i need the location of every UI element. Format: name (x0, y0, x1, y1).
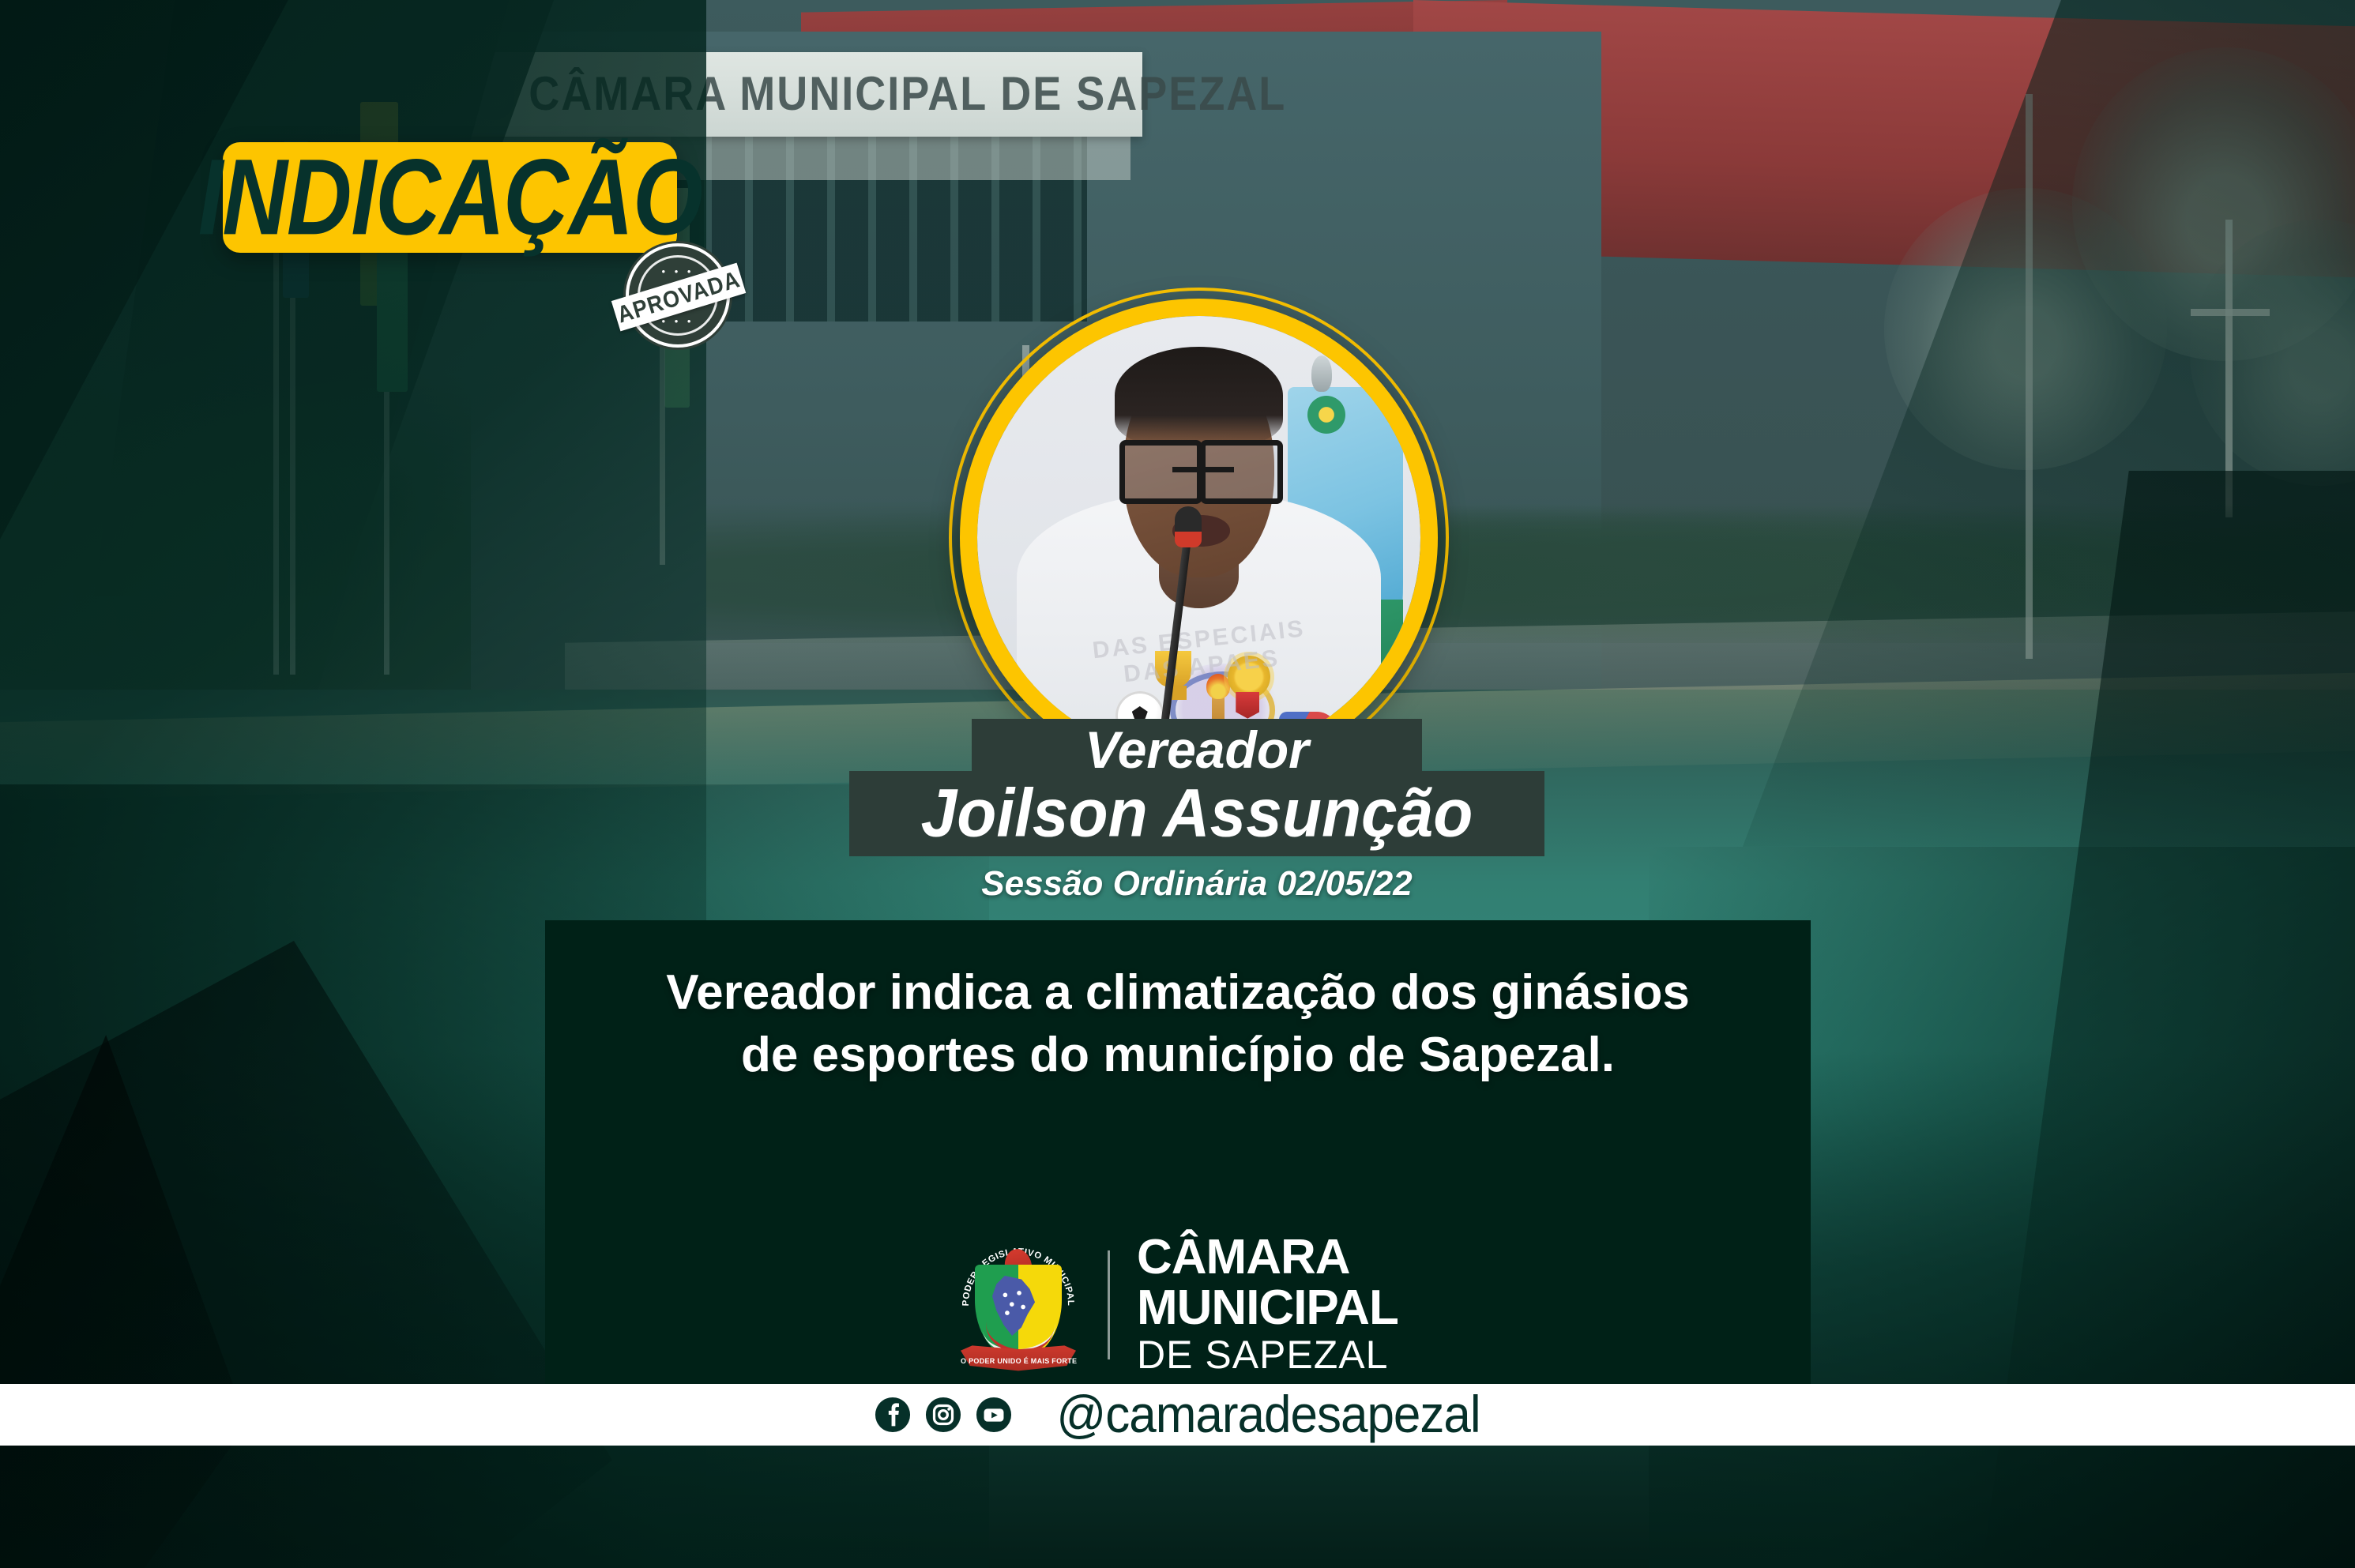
youtube-icon[interactable] (976, 1397, 1012, 1433)
indicacao-label: INDICAÇÃO (198, 144, 702, 252)
flag-rosette-icon (1307, 396, 1345, 434)
poster-canvas: CÂMARA MUNICIPAL DE SAPEZAL INDICAÇÃO (0, 0, 2355, 1568)
coat-of-arms: PODER LEGISLATIVO MUNICIPAL O PODER UNID… (956, 1231, 1081, 1378)
flag-finial-icon (1311, 355, 1332, 392)
social-icon-group (875, 1397, 1012, 1433)
brand-divider (1108, 1250, 1110, 1359)
portrait-container: DAS ESPECIAIS DAS APAES (960, 299, 1438, 776)
instagram-icon[interactable] (925, 1397, 961, 1433)
motto-text: O PODER UNIDO É MAIS FORTE (961, 1357, 1076, 1365)
indicacao-badge: INDICAÇÃO (223, 142, 677, 253)
session-label: Sessão Ordinária 02/05/22 (981, 864, 1412, 904)
brand-line-3: DE SAPEZAL (1137, 1333, 1398, 1378)
session-line: Sessão Ordinária 02/05/22 (849, 861, 1544, 907)
speaker-name: Joilson Assunção (921, 775, 1473, 853)
person-hair (1115, 347, 1283, 444)
brand-line-2: MUNICIPAL (1137, 1283, 1398, 1333)
portrait-photo: DAS ESPECIAIS DAS APAES (977, 316, 1420, 759)
microphone-icon (1175, 506, 1202, 547)
brand-wordmark: CÂMARA MUNICIPAL DE SAPEZAL (1137, 1232, 1398, 1377)
social-bar: @camaradesapezal (0, 1384, 2355, 1446)
motto-banner: O PODER UNIDO É MAIS FORTE (961, 1344, 1076, 1375)
name-plate: Joilson Assunção (849, 771, 1544, 856)
social-handle[interactable]: @camaradesapezal (1056, 1385, 1480, 1444)
brand-lockup: PODER LEGISLATIVO MUNICIPAL O PODER UNID… (956, 1226, 1414, 1384)
eyeglasses-bridge (1172, 467, 1235, 472)
brand-line-1: CÂMARA (1137, 1232, 1398, 1282)
message-line-2: de esportes do município de Sapezal. (577, 1024, 1779, 1086)
facebook-icon[interactable] (875, 1397, 911, 1433)
aprovada-stamp: • • • • • • APROVADA (626, 243, 730, 348)
message-text: Vereador indica a climatização dos ginás… (545, 961, 1811, 1087)
message-line-1: Vereador indica a climatização dos ginás… (577, 961, 1779, 1024)
